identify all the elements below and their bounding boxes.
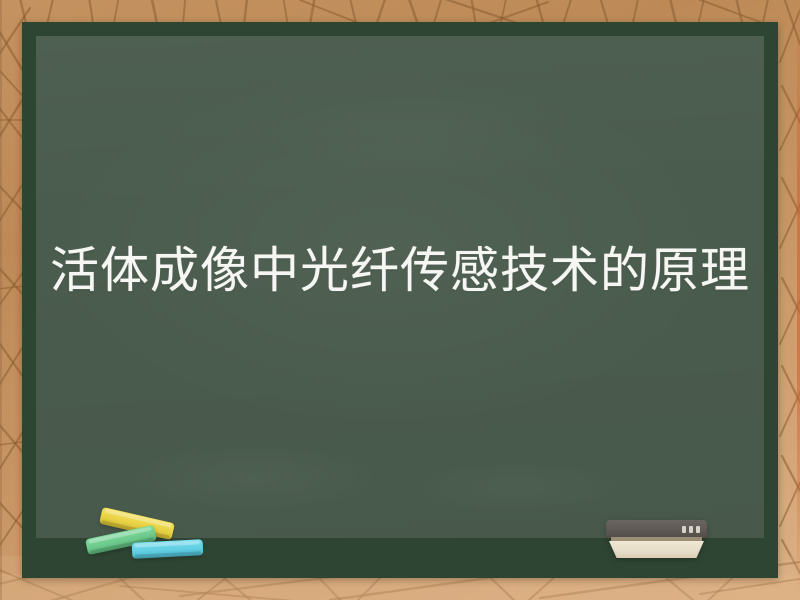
eraser-felt (609, 541, 704, 558)
wood-left-edge (0, 0, 2, 600)
eraser-dot (689, 526, 693, 533)
eraser-dot (682, 526, 686, 533)
chalkboard-scene: 活体成像中光纤传感技术的原理 (0, 0, 800, 600)
eraser-handle (606, 520, 707, 538)
eraser-dot (696, 526, 700, 533)
chalkboard-frame: 活体成像中光纤传感技术的原理 (22, 22, 778, 578)
chalkboard-surface: 活体成像中光纤传感技术的原理 (36, 36, 764, 538)
board-title-text: 活体成像中光纤传感技术的原理 (36, 234, 764, 308)
eraser-dots (682, 526, 700, 533)
board-eraser[interactable] (606, 520, 707, 558)
chalk-blue[interactable] (132, 539, 204, 559)
